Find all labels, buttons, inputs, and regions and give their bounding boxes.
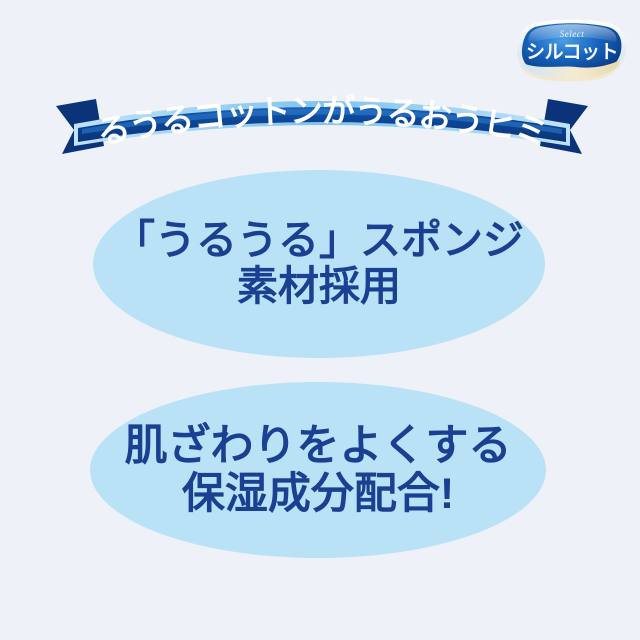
- feature-bubble-moisturizing: 肌ざわりをよくする 保湿成分配合!: [90, 382, 546, 558]
- feature-2-line-1: 肌ざわりをよくする: [125, 422, 512, 470]
- silcot-brand-logo: Select シルコット: [516, 18, 628, 82]
- headline-ribbon: うるうるコットンがうるおうヒミツ: [52, 84, 592, 160]
- feature-2-line-2: 保湿成分配合!: [182, 470, 454, 518]
- feature-bubble-uruuru-sponge: 「うるうる」スポンジ 素材採用: [93, 170, 545, 358]
- logo-brand-name: シルコット: [526, 42, 618, 63]
- feature-1-line-1: 「うるうる」スポンジ: [114, 218, 524, 264]
- ribbon-headline: うるうるコットンがうるおうヒミツ: [52, 84, 550, 151]
- feature-1-line-2: 素材採用: [237, 264, 401, 310]
- promo-poster: Select シルコット: [0, 0, 640, 640]
- logo-select-script: Select: [560, 29, 585, 39]
